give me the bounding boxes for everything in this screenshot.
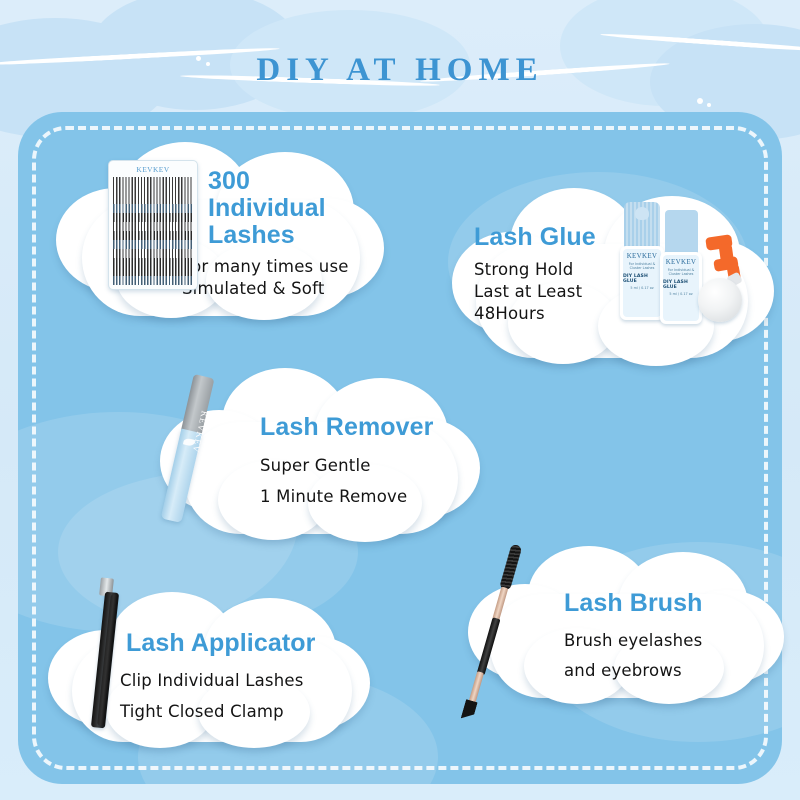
feature-heading: 300 Individual Lashes [208, 168, 388, 249]
feature-card-lash-applicator[interactable]: Lash Applicator Clip Individual Lashes T… [48, 592, 374, 748]
feature-description-line: Tight Closed Clamp [120, 697, 362, 728]
glue-label-for-line: For Individual & Cluster Lashes [663, 268, 699, 277]
lash-brush-image [506, 542, 566, 732]
brush-ferrule-lower [468, 671, 484, 704]
glue-cap-ribbed [624, 202, 660, 250]
glue-bottle-secondary: KEVKEV For Individual & Cluster Lashes D… [660, 210, 702, 326]
lash-applicator-tweezer-image [74, 578, 144, 738]
feature-heading: Lash Applicator [126, 630, 362, 657]
glue-bottle-label: KEVKEV For Individual & Cluster Lashes D… [620, 246, 664, 320]
feature-heading-line: Individual [208, 195, 388, 222]
brush-spoolie-head [499, 544, 522, 591]
feature-description-line: Simulated & Soft [182, 278, 388, 300]
feature-heading: Lash Brush [564, 590, 774, 617]
glue-label-volume: 5 ml / 0.17 oz [669, 292, 692, 296]
glue-label-for-line: For Individual & Cluster Lashes [623, 262, 661, 271]
cap-nub [635, 207, 649, 220]
feature-card-individual-lashes[interactable]: KEVKEV 300 Individual Lashes For many ti… [56, 142, 386, 322]
feature-heading: Lash Remover [260, 414, 470, 441]
feature-heading-line: 300 [208, 168, 388, 195]
page-title: DIY AT HOME [0, 52, 800, 89]
feature-description-line: Clip Individual Lashes [120, 666, 362, 697]
feature-text-individual-lashes: 300 Individual Lashes For many times use… [208, 168, 388, 300]
lash-tray-brand-label: KEVKEV [109, 165, 197, 174]
glue-bottle-label: KEVKEV For Individual & Cluster Lashes D… [660, 252, 702, 324]
feature-description-line: For many times use [182, 256, 388, 278]
feature-card-lash-glue[interactable]: KEVKEV For Individual & Cluster Lashes D… [452, 188, 772, 368]
lash-tray-image: KEVKEV [108, 160, 198, 290]
glue-label-product: DIY LASH GLUE [663, 280, 699, 290]
feature-card-lash-remover[interactable]: KEVKEV Lash Remover Super Gentle 1 Minut… [160, 368, 480, 544]
feature-description-line: 1 Minute Remove [260, 482, 470, 513]
glue-bottles-image: KEVKEV For Individual & Cluster Lashes D… [602, 200, 772, 340]
glue-label-brand: KEVKEV [627, 252, 658, 260]
feature-card-lash-brush[interactable]: Lash Brush Brush eyelashes and eyebrows [468, 546, 786, 704]
feature-description: For many times use Simulated & Soft [182, 256, 388, 300]
glue-label-brand: KEVKEV [666, 258, 697, 266]
glue-label-product: DIY LASH GLUE [623, 274, 661, 284]
glue-label-volume: 5 ml / 0.17 oz [630, 286, 653, 290]
feature-description: Clip Individual Lashes Tight Closed Clam… [120, 666, 362, 727]
feature-text-lash-remover: Lash Remover Super Gentle 1 Minute Remov… [260, 414, 470, 512]
feature-description: Super Gentle 1 Minute Remove [260, 451, 470, 512]
feature-description-line: and eyebrows [564, 656, 774, 686]
feature-description-line: Super Gentle [260, 451, 470, 482]
feature-description: Brush eyelashes and eyebrows [564, 626, 774, 685]
sparkle-dot [707, 103, 711, 107]
glue-cap-smooth [665, 210, 698, 256]
lash-tray-rows [113, 177, 193, 284]
feature-text-lash-applicator: Lash Applicator Clip Individual Lashes T… [126, 630, 362, 727]
infographic-canvas: DIY AT HOME KEVKEV [0, 0, 800, 800]
lash-remover-tube-image: KEVKEV [194, 374, 254, 534]
glue-bottle-primary: KEVKEV For Individual & Cluster Lashes D… [620, 202, 664, 324]
sparkle-dot [697, 98, 703, 104]
feature-description-line: Brush eyelashes [564, 626, 774, 656]
air-blower-ball [698, 278, 742, 322]
feature-text-lash-brush: Lash Brush Brush eyelashes and eyebrows [564, 590, 774, 685]
feature-heading-line: Lashes [208, 222, 388, 249]
